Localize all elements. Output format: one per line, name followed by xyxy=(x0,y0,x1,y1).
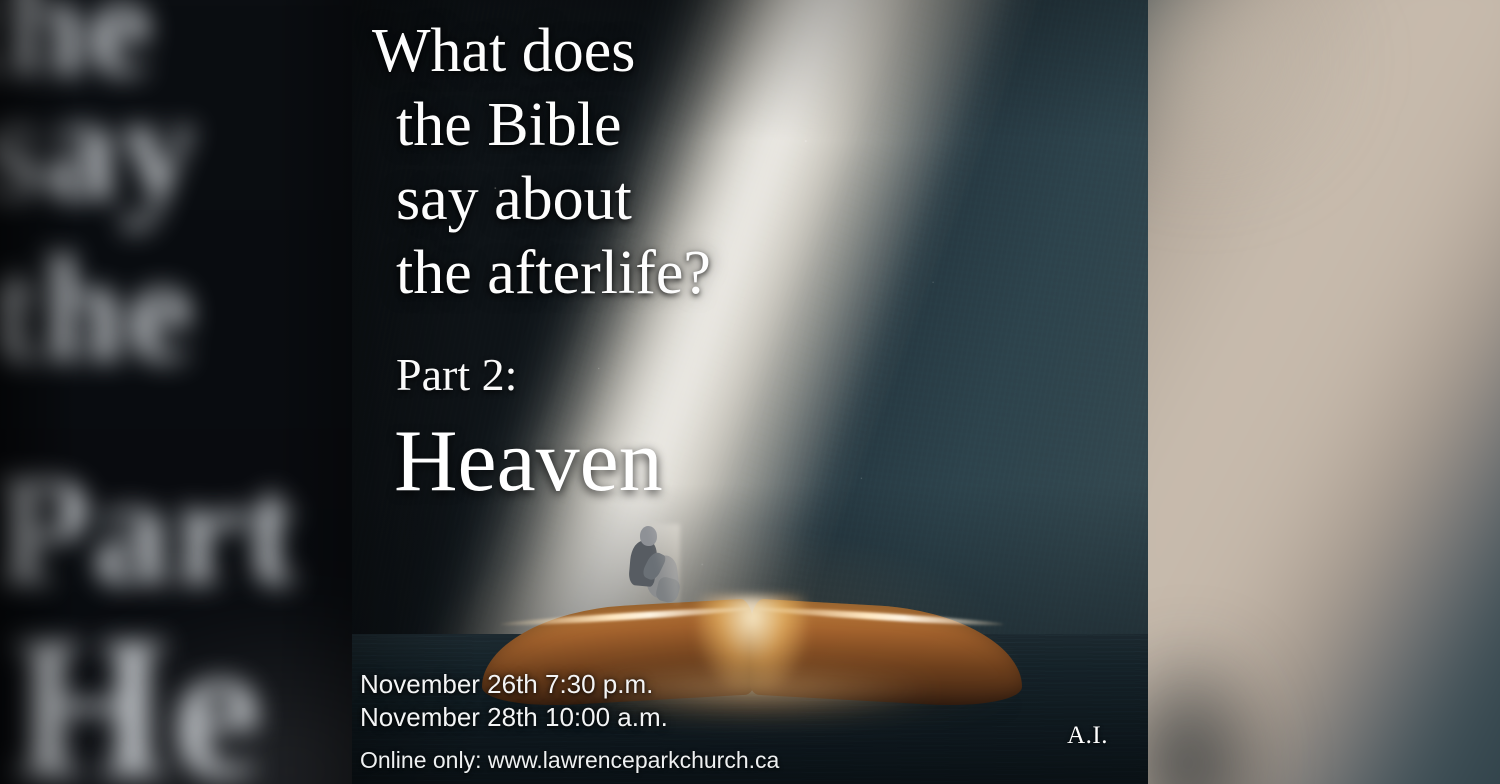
left-panel-blurred-word-5: He xyxy=(10,590,265,784)
left-panel-blurred-word-3: the xyxy=(0,222,195,396)
headline-line-2: the Bible xyxy=(372,88,892,162)
series-part-label: Part 2: xyxy=(396,348,517,402)
headline-line-4: the afterlife? xyxy=(372,236,892,310)
schedule-block: November 26th 7:30 p.m. November 28th 10… xyxy=(360,668,668,734)
schedule-line-2: November 28th 10:00 a.m. xyxy=(360,701,668,734)
schedule-line-1: November 26th 7:30 p.m. xyxy=(360,668,668,701)
poster-text-layer: What does the Bible say about the afterl… xyxy=(352,0,1148,784)
online-url-line: Online only: www.lawrenceparkchurch.ca xyxy=(360,746,779,775)
right-panel-shadow xyxy=(1148,644,1268,784)
page-title: What does the Bible say about the afterl… xyxy=(372,14,892,310)
right-panel-light-glow xyxy=(1148,0,1348,190)
signature-mark: A.I. xyxy=(1067,722,1108,750)
left-blurred-panel: the say the Part He xyxy=(0,0,352,784)
poster-screenshot: the say the Part He xyxy=(0,0,1500,784)
series-part-title: Heaven xyxy=(394,412,663,512)
left-panel-blurred-word-2: say xyxy=(0,60,198,234)
headline-line-3: say about xyxy=(372,162,892,236)
headline-line-1: What does xyxy=(372,14,892,88)
right-blurred-panel xyxy=(1148,0,1500,784)
poster-artwork: What does the Bible say about the afterl… xyxy=(352,0,1148,784)
